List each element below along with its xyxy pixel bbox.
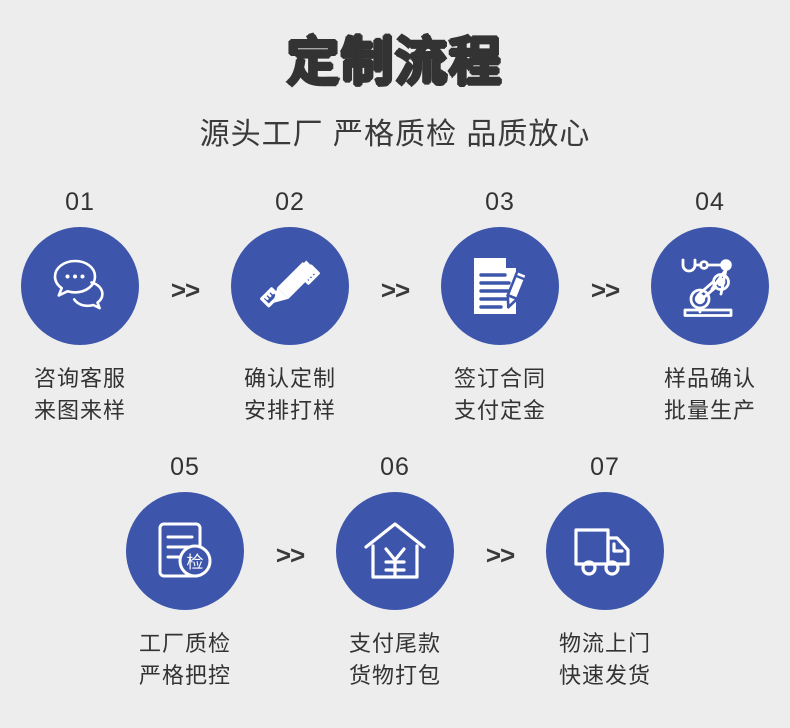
step-label-06: 支付尾款 货物打包 (349, 628, 441, 692)
process-step-01[interactable]: 01 咨询客服 来图来样 (10, 190, 150, 427)
pencil-ruler-icon (255, 251, 325, 321)
header: 定制流程 源头工厂 严格质检 品质放心 (0, 0, 790, 153)
step-label-05: 工厂质检 严格把控 (139, 628, 231, 692)
process-step-02[interactable]: 02 (220, 190, 360, 427)
step-number-06: 06 (380, 455, 410, 480)
step-icon-circle-06 (336, 492, 454, 610)
step-icon-circle-02 (231, 227, 349, 345)
arrow-separator-2: >> (360, 275, 430, 306)
arrow-separator-1: >> (150, 275, 220, 306)
chat-bubbles-icon (45, 251, 115, 321)
page-subtitle: 源头工厂 严格质检 品质放心 (0, 109, 790, 153)
step-icon-circle-07 (546, 492, 664, 610)
process-row-second: 05 检 工厂质检 严格把控 >> 06 (0, 455, 790, 692)
step-icon-circle-03 (441, 227, 559, 345)
step-icon-circle-05: 检 (126, 492, 244, 610)
process-step-06[interactable]: 06 支付尾款 货物打包 (325, 455, 465, 692)
package-yuan-icon (360, 516, 430, 586)
step-label-07: 物流上门 快速发货 (559, 628, 651, 692)
arrow-separator-4: >> (255, 540, 325, 571)
step-number-05: 05 (170, 455, 200, 480)
step-icon-circle-01 (21, 227, 139, 345)
process-step-03[interactable]: 03 (430, 190, 570, 427)
inspection-badge-text: 检 (187, 553, 204, 573)
step-label-02: 确认定制 安排打样 (244, 363, 336, 427)
step-number-04: 04 (695, 190, 725, 215)
delivery-truck-icon (570, 516, 640, 586)
process-row-first: 01 咨询客服 来图来样 >> 02 (0, 190, 790, 427)
step-number-03: 03 (485, 190, 515, 215)
process-step-04[interactable]: 04 (640, 190, 780, 427)
step-label-03: 签订合同 支付定金 (454, 363, 546, 427)
step-label-01: 咨询客服 来图来样 (34, 363, 126, 427)
page-title: 定制流程 (0, 36, 790, 91)
custom-process-infographic: { "header": { "title": "定制流程", "subtitle… (0, 0, 790, 728)
step-number-01: 01 (65, 190, 95, 215)
robot-arm-icon (675, 251, 745, 321)
step-icon-circle-04 (651, 227, 769, 345)
contract-signing-icon (465, 251, 535, 321)
quality-inspection-document-icon: 检 (150, 516, 220, 586)
process-step-05[interactable]: 05 检 工厂质检 严格把控 (115, 455, 255, 692)
step-number-02: 02 (275, 190, 305, 215)
arrow-separator-5: >> (465, 540, 535, 571)
process-step-07[interactable]: 07 物流上门 快速发货 (535, 455, 675, 692)
step-label-04: 样品确认 批量生产 (664, 363, 756, 427)
step-number-07: 07 (590, 455, 620, 480)
arrow-separator-3: >> (570, 275, 640, 306)
